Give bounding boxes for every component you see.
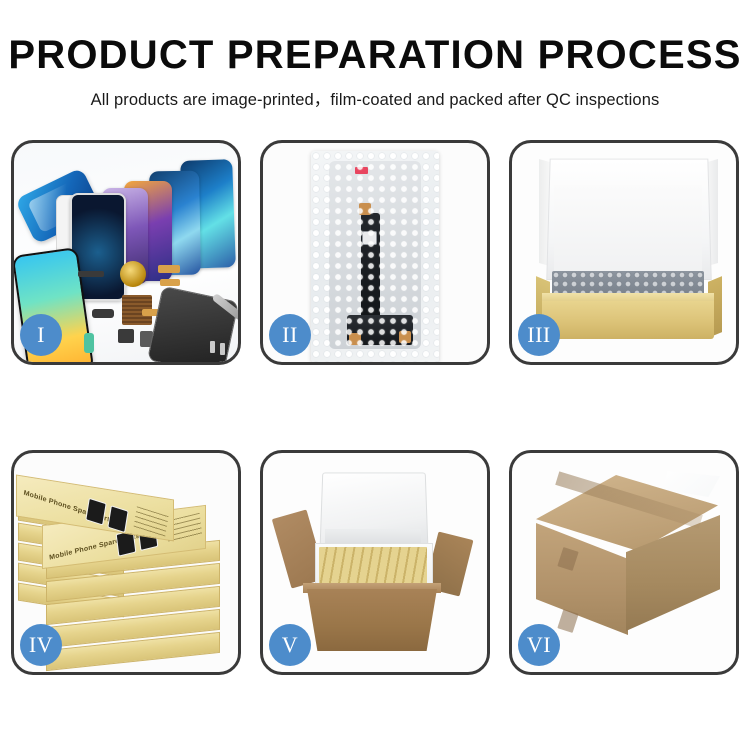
step-badge-3: III [518, 314, 560, 356]
process-step-panel-5[interactable]: V [260, 450, 490, 675]
flex-cable-part-1 [158, 265, 180, 273]
box-lcd-artwork-2 [107, 505, 128, 533]
step-badge-6: VI [518, 624, 560, 666]
speaker-mesh-part [78, 271, 104, 277]
box-foam-liner [554, 185, 702, 277]
foam-lid-edge [325, 529, 421, 543]
step-badge-5: V [269, 624, 311, 666]
step-badge-1: I [20, 314, 62, 356]
screw-part-1 [210, 341, 215, 353]
process-step-panel-6[interactable]: VI [509, 450, 739, 675]
process-step-panel-4[interactable]: Mobile Phone Spare Parts Mobile Phone Sp… [11, 450, 241, 675]
bubble-wrap-overlay [311, 151, 439, 362]
wireless-charging-coil-part [120, 261, 146, 287]
carton-front-wall [307, 589, 437, 651]
process-step-panel-1[interactable]: I [11, 140, 241, 365]
box-front-wall [542, 301, 714, 339]
vibrator-part [118, 329, 134, 343]
process-step-panel-2[interactable]: II [260, 140, 490, 365]
step-badge-4: IV [20, 624, 62, 666]
page-header: PRODUCT PREPARATION PROCESS All products… [0, 0, 750, 110]
screw-part-2 [220, 343, 225, 355]
flex-cable-part-2 [160, 279, 180, 286]
battery-connector-part [84, 333, 94, 353]
page-title: PRODUCT PREPARATION PROCESS [0, 34, 750, 76]
camera-module-part [92, 309, 114, 318]
page-subtitle: All products are image-printed，film-coat… [0, 86, 750, 110]
carton-tape-tab-bottom [557, 609, 578, 633]
step-badge-2: II [269, 314, 311, 356]
process-step-panel-3[interactable]: III [509, 140, 739, 365]
box-spec-text-block [133, 506, 168, 537]
process-step-grid: I II III [11, 140, 739, 675]
box-lcd-artwork-1 [85, 498, 106, 526]
